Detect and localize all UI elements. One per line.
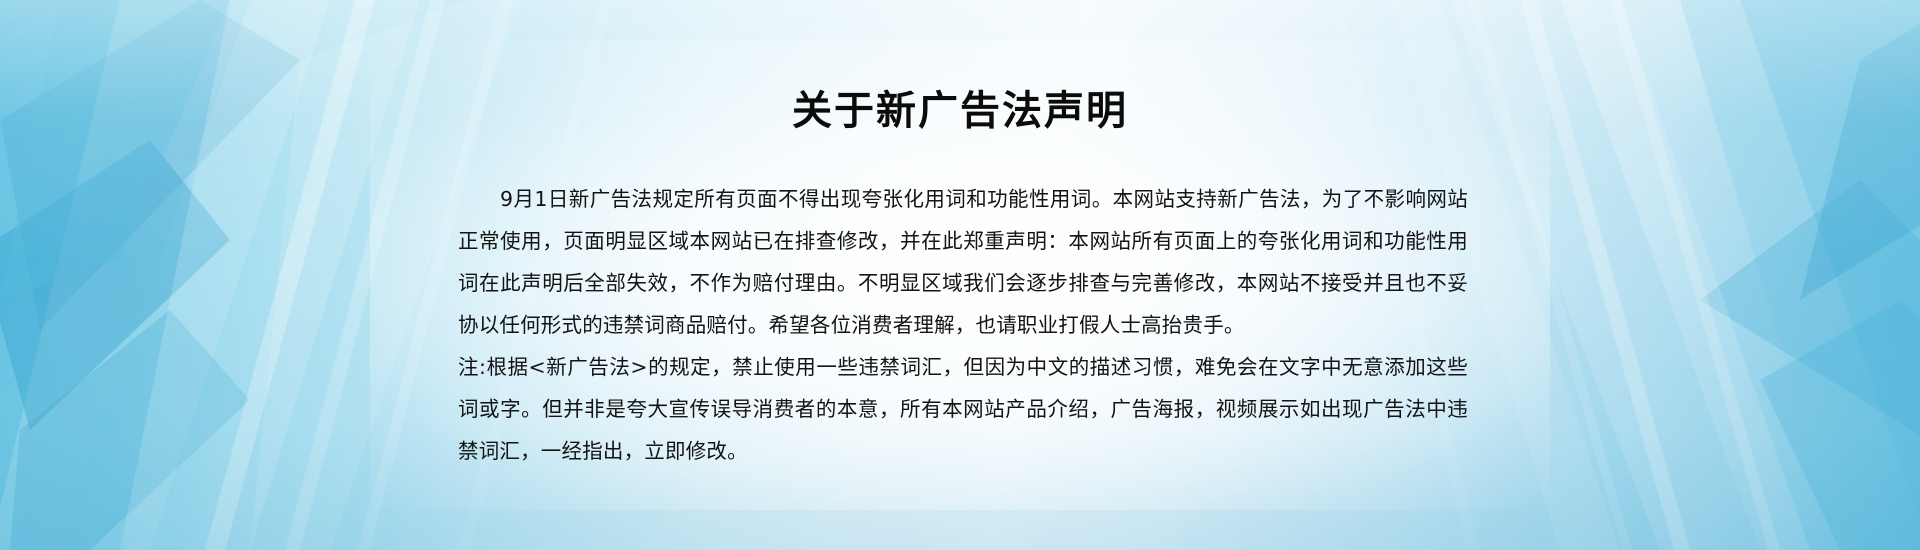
statement-body: 9月1日新广告法规定所有页面不得出现夸张化用词和功能性用词。本网站支持新广告法，…: [458, 178, 1468, 472]
statement-paragraph-1: 9月1日新广告法规定所有页面不得出现夸张化用词和功能性用词。本网站支持新广告法，…: [458, 178, 1468, 346]
advertising-law-statement-banner: 关于新广告法声明 9月1日新广告法规定所有页面不得出现夸张化用词和功能性用词。本…: [0, 0, 1920, 550]
page-title: 关于新广告法声明: [0, 88, 1920, 134]
statement-content: 关于新广告法声明 9月1日新广告法规定所有页面不得出现夸张化用词和功能性用词。本…: [0, 0, 1920, 550]
statement-paragraph-2: 注:根据<新广告法>的规定，禁止使用一些违禁词汇，但因为中文的描述习惯，难免会在…: [458, 346, 1468, 472]
